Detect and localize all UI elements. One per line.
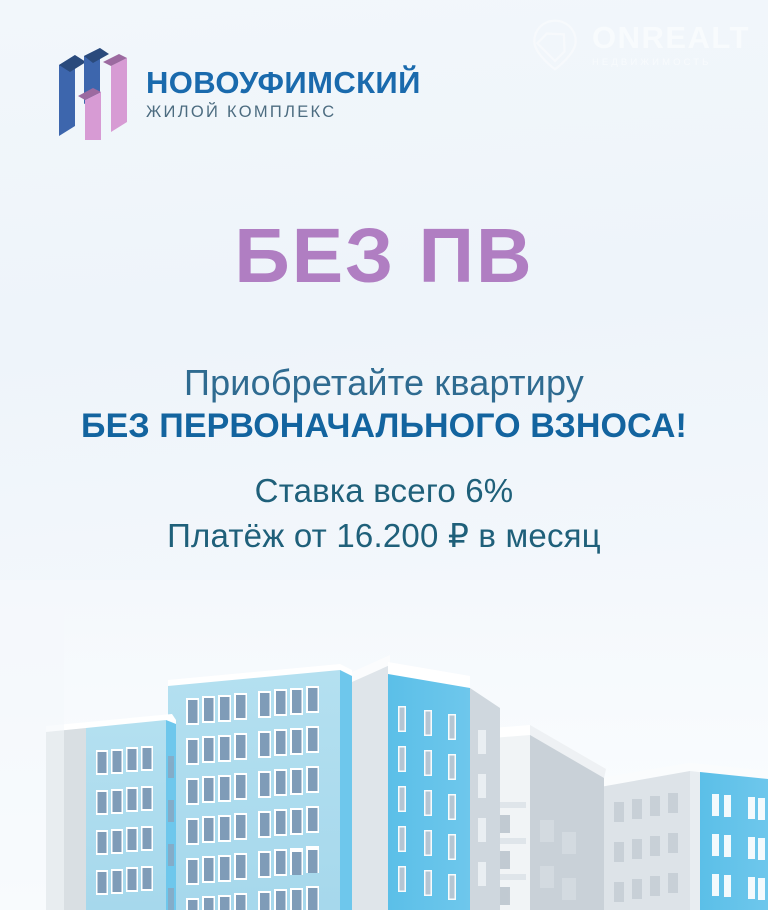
building-render [0,580,768,910]
watermark-subtitle: НЕДВИЖИМОСТЬ [592,58,750,68]
building-tall-tower [352,655,500,910]
copy-line-payment: Платёж от 16.200 ₽ в месяц [0,514,768,559]
building-right-wing [600,763,768,910]
copy-line-1: Приобретайте квартиру [0,362,768,404]
watermark-title: ONREALT [592,22,750,53]
onrealt-watermark: ONREALT НЕДВИЖИМОСТЬ [528,18,750,72]
brand-logo: НОВОУФИМСКИЙ ЖИЛОЙ КОМПЛЕКС [57,48,421,140]
brand-name: НОВОУФИМСКИЙ [146,67,421,100]
novoufimsky-h-monogram-icon [57,48,131,140]
brand-text: НОВОУФИМСКИЙ ЖИЛОЙ КОМПЛЕКС [146,67,421,122]
copy-line-rate: Ставка всего 6% [0,469,768,514]
promo-poster: ONREALT НЕДВИЖИМОСТЬ НОВОУФИМСКИЙ ЖИЛОЙ [0,0,768,910]
copy-block: Приобретайте квартиру БЕЗ ПЕРВОНАЧАЛЬНОГ… [0,362,768,558]
building-left-slab [46,714,176,910]
headline: БЕЗ ПВ [0,218,768,295]
brand-subtitle: ЖИЛОЙ КОМПЛЕКС [146,104,421,121]
watermark-text: ONREALT НЕДВИЖИМОСТЬ [592,22,750,68]
residential-complex-illustration [0,580,768,910]
house-pin-icon [528,18,582,72]
copy-line-2: БЕЗ ПЕРВОНАЧАЛЬНОГО ВЗНОСА! [0,406,768,447]
building-center-slab [168,664,352,910]
